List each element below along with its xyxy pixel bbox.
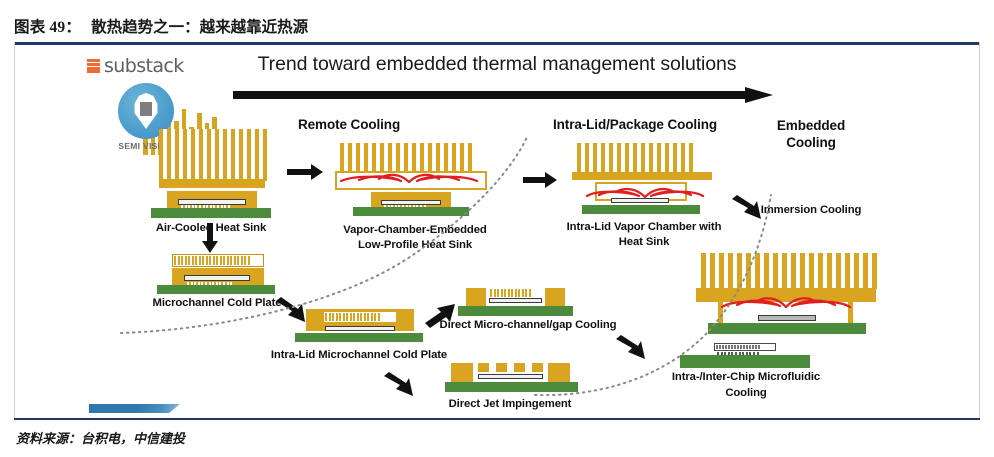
substrate-pcb [680,355,810,368]
lid-wall-left [466,288,486,307]
substrate-pcb [458,306,573,316]
device-direct-microchannel-gap [458,288,573,320]
label-immersion-cooling: Immersion Cooling [757,203,865,218]
label-intra-lid-vapor-chamber: Intra-Lid Vapor Chamber with Heat Sink [561,220,727,249]
microchannel-block [489,288,542,298]
substrate-pcb [445,382,578,392]
heat-sink-base [572,172,712,180]
lid-wall-left [451,363,473,384]
jet-manifold-block-2 [496,363,507,372]
heat-sink-base [159,179,265,188]
label-vapor-chamber-low-profile: Vapor-Chamber-Embedded Low-Profile Heat … [332,223,498,252]
vapor-chamber [335,171,487,190]
jet-manifold-block-4 [532,363,543,372]
cold-plate-base [696,288,876,302]
heat-sink-fins [340,143,472,173]
substrate-pcb [708,323,866,334]
figure-title-text: 散热趋势之一：越来越靠近热源 [91,15,308,37]
substrate-pcb [295,333,423,342]
device-intra-inter-chip-microfluidic [680,343,810,373]
device-vapor-chamber-low-profile [331,143,496,221]
label-air-cooled-heat-sink: Air-Cooled Heat Sink [140,221,282,236]
microchannel-block [324,312,396,322]
device-intra-lid-microchannel-cold-plate [295,309,423,351]
figure-number: 图表 49： [14,15,81,37]
jet-manifold-block-1 [478,363,489,372]
substack-logo: substack [87,55,184,77]
section-heading-embedded: Embedded Cooling [763,117,859,152]
label-intra-inter-chip-microfluidic: Intra-/Inter-Chip Microfluidic Cooling [670,370,822,402]
die [184,275,250,281]
trend-banner-text: Trend toward embedded thermal management… [227,53,767,76]
device-direct-jet-impingement [445,357,578,397]
die [758,315,816,321]
source-note: 资料来源：台积电，中信建投 [16,428,185,447]
figure-canvas: substack SEMI VISION Trend toward embedd… [15,45,979,417]
substack-icon [87,59,100,73]
device-air-cooled-heat-sink [145,129,275,217]
device-immersion-cooling [696,253,876,339]
figure-page: 图表 49： 散热趋势之一：越来越靠近热源 substack SEMI VISI… [0,0,994,457]
support-post-left [718,301,723,323]
heat-sink-fins [577,143,693,173]
substrate-pcb [353,207,469,216]
support-post-right [848,301,853,323]
microchannel-block [172,254,264,267]
lid-wall-right [545,288,565,307]
figure-divider-bottom [14,418,980,420]
frame-edge-left [14,42,15,420]
substrate-pcb [582,205,700,214]
device-microchannel-cold-plate [157,254,275,300]
trend-arrow-icon [233,87,773,103]
frame-edge-right [979,42,980,420]
label-microchannel-cold-plate: Microchannel Cold Plate [134,296,300,311]
microfluidic-die-channels [714,343,776,351]
substack-label: substack [104,55,184,77]
heat-sink-fins [701,253,877,289]
watermark-bar [89,404,180,413]
label-direct-jet-impingement: Direct Jet Impingement [415,397,605,412]
device-intra-lid-vapor-chamber [566,143,724,221]
section-heading-remote: Remote Cooling [298,117,400,132]
label-direct-microchannel-gap: Direct Micro-channel/gap Cooling [433,318,623,333]
section-heading-intra-lid-package: Intra-Lid/Package Cooling [553,117,717,132]
substrate-pcb [151,208,271,218]
semivision-chip-icon [140,102,152,116]
lid-wall-right [548,363,570,384]
page-title: 图表 49： 散热趋势之一：越来越靠近热源 [14,14,974,38]
jet-manifold-block-3 [514,363,525,372]
substrate-pcb [157,285,275,294]
heat-sink-fins [159,129,267,181]
